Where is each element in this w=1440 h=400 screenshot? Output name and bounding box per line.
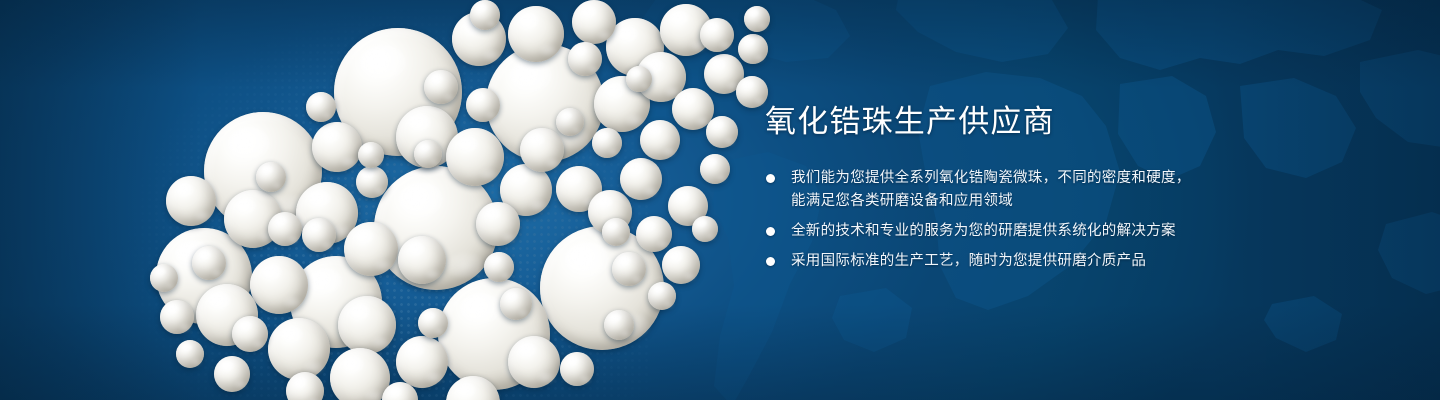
bullet-dot-icon (766, 227, 775, 236)
list-item: 我们能为您提供全系列氧化锆陶瓷微珠，不同的密度和硬度， 能满足您各类研磨设备和应… (765, 167, 1235, 213)
list-item: 全新的技术和专业的服务为您的研磨提供系统化的解决方案 (765, 220, 1235, 243)
list-item-line: 全新的技术和专业的服务为您的研磨提供系统化的解决方案 (791, 220, 1235, 243)
zirconia-beads-image (0, 0, 780, 400)
page-title: 氧化锆珠生产供应商 (765, 104, 1235, 141)
feature-list: 我们能为您提供全系列氧化锆陶瓷微珠，不同的密度和硬度， 能满足您各类研磨设备和应… (765, 167, 1235, 273)
list-item-line: 我们能为您提供全系列氧化锆陶瓷微珠，不同的密度和硬度， (791, 167, 1235, 190)
list-item: 采用国际标准的生产工艺，随时为您提供研磨介质产品 (765, 250, 1235, 273)
list-item-line: 采用国际标准的生产工艺，随时为您提供研磨介质产品 (791, 250, 1235, 273)
banner-copy: 氧化锆珠生产供应商 我们能为您提供全系列氧化锆陶瓷微珠，不同的密度和硬度， 能满… (765, 104, 1235, 273)
hero-banner: 氧化锆珠生产供应商 我们能为您提供全系列氧化锆陶瓷微珠，不同的密度和硬度， 能满… (0, 0, 1440, 400)
list-item-line: 能满足您各类研磨设备和应用领域 (791, 190, 1235, 213)
bullet-dot-icon (766, 257, 775, 266)
bullet-dot-icon (766, 174, 775, 183)
